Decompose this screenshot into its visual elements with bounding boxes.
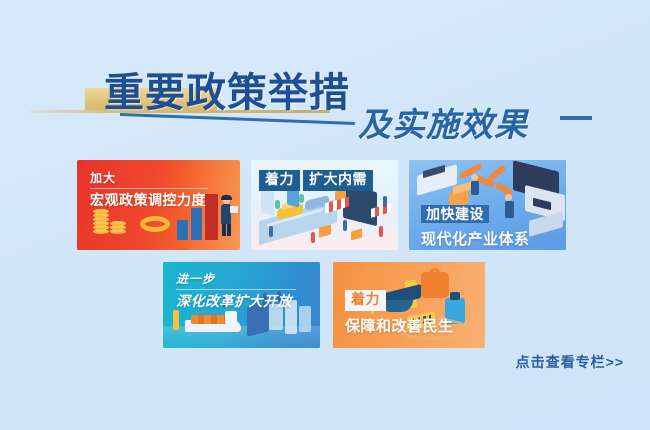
card4-divider: [176, 289, 296, 290]
person-icon: [269, 226, 273, 237]
dock-post-icon: [173, 310, 179, 330]
card-expand-domestic-demand[interactable]: 着力扩大内需: [251, 160, 398, 250]
card-improve-peoples-livelihood[interactable]: 着力 保障和改善民生: [333, 262, 485, 348]
card1-line2: 宏观政策调控力度: [90, 192, 208, 210]
card-deepen-reform-opening[interactable]: 进一步 深化改革扩大开放: [163, 262, 320, 348]
card3-line2: 现代化产业体系: [421, 230, 530, 249]
tree-icon: [275, 200, 280, 209]
ship-bridge-icon: [225, 311, 237, 324]
card1-divider: [90, 188, 208, 189]
person-icon: [217, 197, 239, 242]
page-title-line2: 及实施效果: [358, 98, 528, 146]
card3-text-block: 加快建设 现代化产业体系: [421, 205, 530, 250]
card3-line1: 加快建设: [421, 205, 489, 223]
kiosk-icon: [261, 188, 274, 215]
title-dash-decoration: [560, 116, 592, 120]
card1-line1: 加大: [90, 171, 208, 186]
person-icon: [343, 220, 347, 231]
card-macro-policy[interactable]: 加大 宏观政策调控力度: [77, 160, 240, 250]
card2-line2: 扩大内需: [303, 170, 373, 191]
card-modern-industrial-system[interactable]: 加快建设 现代化产业体系: [409, 160, 566, 250]
tree-icon: [299, 194, 304, 203]
page-title-line1: 重要政策举措: [104, 60, 350, 118]
person-icon: [383, 196, 387, 207]
card4-text-block: 进一步 深化改革扩大开放: [176, 272, 296, 311]
backpack-handle-icon: [429, 268, 441, 276]
page-header: 重要政策举措 及实施效果: [0, 48, 650, 148]
card5-line2: 保障和改善民生: [345, 317, 454, 336]
card4-line1: 进一步: [176, 272, 296, 287]
card4-line2: 深化改革扩大开放: [176, 293, 296, 311]
card5-text-block: 着力 保障和改善民生: [345, 290, 454, 336]
person-icon: [311, 232, 315, 243]
coin-ring-icon: [140, 216, 170, 232]
card5-line1: 着力: [345, 290, 386, 311]
card2-text-block: 着力扩大内需: [259, 170, 373, 191]
card3-line1-wrap: 加快建设: [421, 205, 530, 225]
building-icon: [299, 306, 311, 332]
worker-icon: [471, 174, 479, 196]
card1-text-block: 加大 宏观政策调控力度: [90, 171, 208, 210]
view-column-link[interactable]: 点击查看专栏>>: [516, 352, 624, 372]
person-icon: [379, 226, 383, 237]
card2-line1: 着力: [259, 170, 300, 191]
